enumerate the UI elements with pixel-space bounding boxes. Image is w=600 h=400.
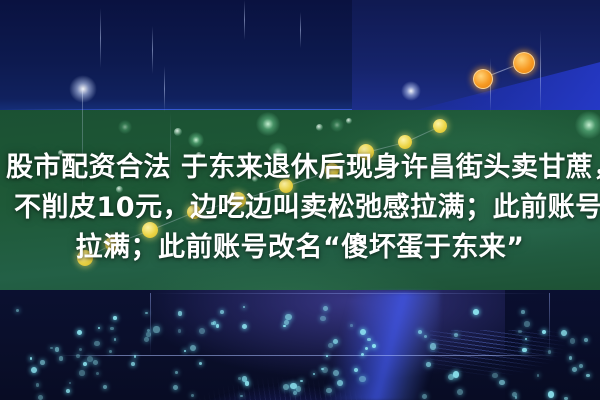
background-particle	[184, 350, 186, 352]
green-star-glow-icon	[575, 111, 600, 139]
data-point-marker	[513, 52, 535, 74]
background-particle	[146, 332, 151, 337]
background-particle	[290, 383, 296, 389]
background-particle	[586, 374, 589, 377]
dome-edge-highlight	[300, 292, 440, 400]
background-particle	[293, 391, 297, 395]
background-particle	[199, 328, 205, 334]
background-particle	[337, 380, 343, 386]
background-particle	[153, 326, 159, 332]
background-particle	[333, 339, 338, 344]
background-particle	[359, 376, 365, 382]
headline-line-1: 股市配资合法 于东来退休后现身许昌街头卖甘蔗，	[6, 148, 600, 188]
background-particle	[30, 357, 32, 359]
light-streak	[540, 30, 541, 112]
background-particle	[328, 343, 333, 348]
background-particle	[79, 370, 84, 375]
background-particle	[422, 394, 427, 399]
background-particle	[113, 316, 117, 320]
background-particle	[243, 306, 245, 308]
background-particle	[66, 389, 70, 393]
background-particle	[114, 338, 117, 341]
light-streak	[152, 26, 153, 74]
background-particle	[430, 343, 436, 349]
background-particle	[178, 311, 182, 315]
white-star-glow-icon	[69, 75, 97, 103]
background-particle	[361, 353, 364, 356]
background-particle	[144, 337, 149, 342]
headline-text: 股市配资合法 于东来退休后现身许昌街头卖甘蔗， 不削皮10元，边吃边叫卖松弛感拉…	[0, 148, 600, 268]
green-star-glow-icon	[256, 112, 280, 136]
background-particle	[83, 362, 87, 366]
background-particle	[323, 306, 328, 311]
light-streak	[164, 66, 165, 112]
white-star-glow-icon	[401, 81, 421, 101]
data-point-marker	[433, 119, 447, 133]
background-particle	[473, 309, 479, 315]
background-particle	[40, 360, 45, 365]
background-particle	[131, 362, 135, 366]
background-particle	[584, 338, 588, 342]
background-particle	[524, 321, 529, 326]
background-particle	[211, 322, 213, 324]
upper-divider-rule	[150, 293, 550, 294]
background-particle	[326, 355, 328, 357]
light-streak	[300, 12, 301, 48]
faint-dot	[316, 124, 323, 131]
background-particle	[561, 330, 567, 336]
background-particle	[367, 338, 370, 341]
background-particle	[418, 330, 422, 334]
background-particle	[457, 389, 463, 395]
background-particle	[326, 388, 332, 394]
headline-line-3: 拉满；此前账号改名“傻坏蛋于东来”	[0, 228, 600, 268]
background-particle	[492, 373, 498, 379]
background-particle	[350, 324, 353, 327]
background-particle	[518, 330, 522, 334]
background-particle	[220, 310, 224, 314]
background-particle	[570, 338, 575, 343]
background-particle	[579, 364, 583, 368]
faint-dot	[174, 128, 182, 136]
green-star-glow-icon	[330, 118, 344, 132]
background-particle	[147, 329, 150, 332]
background-particle	[109, 350, 112, 353]
frame-right-line	[549, 293, 550, 356]
background-particle	[522, 348, 526, 352]
background-particle	[59, 356, 64, 361]
background-particle	[521, 310, 525, 314]
background-particle	[145, 312, 147, 314]
background-particle	[173, 385, 178, 390]
background-particle	[216, 324, 219, 327]
background-particle	[178, 329, 181, 332]
background-particle	[454, 333, 458, 337]
background-particle	[300, 380, 302, 382]
frame-left-line	[150, 293, 151, 356]
data-point-marker	[398, 135, 412, 149]
background-particle	[94, 341, 99, 346]
background-particle	[354, 368, 358, 372]
background-particle	[320, 316, 326, 322]
background-particle	[453, 371, 459, 377]
data-point-marker	[473, 69, 493, 89]
background-particle	[426, 362, 431, 367]
background-particle	[283, 325, 286, 328]
green-star-glow-icon	[188, 132, 204, 148]
green-star-glow-icon	[118, 120, 132, 134]
thumbnail-banner: 股市配资合法 于东来退休后现身许昌街头卖甘蔗， 不削皮10元，边吃边叫卖松弛感拉…	[0, 0, 600, 400]
background-particle	[103, 385, 107, 389]
light-streak	[100, 8, 101, 68]
background-particle	[548, 350, 551, 353]
faint-dot	[346, 118, 352, 124]
background-particle	[285, 314, 291, 320]
background-particle	[93, 360, 98, 365]
background-particle	[110, 327, 113, 330]
background-particle	[548, 391, 554, 397]
light-streak	[244, 0, 245, 40]
background-particle	[77, 330, 82, 335]
background-particle	[542, 330, 546, 334]
headline-line-2: 不削皮10元，边吃边叫卖松弛感拉满；此前账号改名	[14, 188, 600, 228]
